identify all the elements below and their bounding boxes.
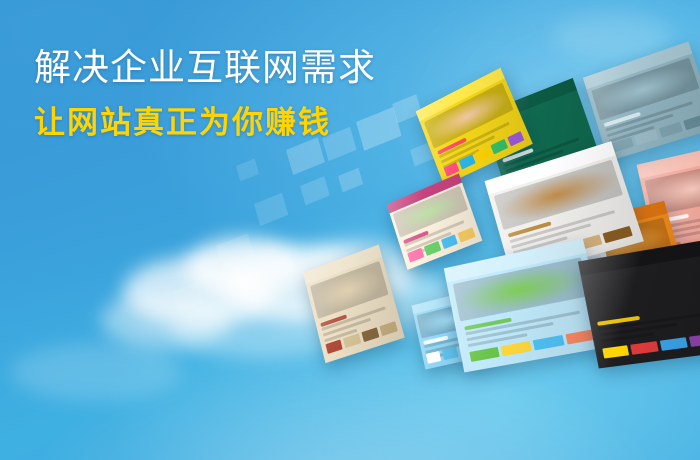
hero-copy: 解决企业互联网需求 让网站真正为你赚钱 [34, 46, 376, 141]
website-card-dark-hexagon-site[interactable] [578, 241, 700, 369]
page-subtitle: 让网站真正为你赚钱 [34, 104, 376, 141]
hero-banner: 解决企业互联网需求 让网站真正为你赚钱 [0, 0, 700, 460]
website-card-cartoon-park-site[interactable] [444, 238, 609, 372]
website-card-kids-colorful-site[interactable] [387, 173, 483, 269]
website-card-vintage-paper-site[interactable] [303, 245, 405, 364]
page-title: 解决企业互联网需求 [34, 46, 376, 90]
